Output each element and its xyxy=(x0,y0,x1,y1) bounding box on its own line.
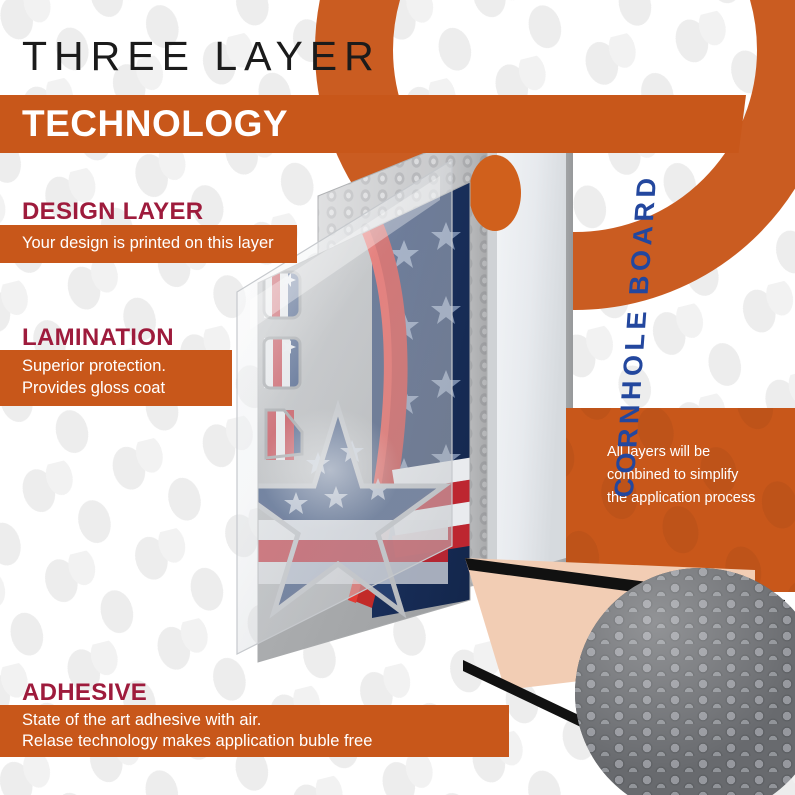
lamination-heading: LAMINATION xyxy=(22,324,174,352)
adhesive-band: State of the art adhesive with air. Rela… xyxy=(0,705,509,757)
adhesive-zoom-circle xyxy=(575,568,795,795)
adhesive-body-line-2: Relase technology makes application bubl… xyxy=(22,731,372,752)
title-band: TECHNOLOGY xyxy=(0,95,746,153)
note-line-3: the application process xyxy=(607,487,792,510)
headline-technology: TECHNOLOGY xyxy=(22,102,288,146)
adhesive-heading: ADHESIVE xyxy=(22,679,147,707)
design-layer-band: Your design is printed on this layer xyxy=(0,225,297,263)
infographic-canvas: All layers will be combined to simplify … xyxy=(0,0,795,795)
adhesive-body-line-1: State of the art adhesive with air. xyxy=(22,710,261,731)
lamination-body-line-2: Provides gloss coat xyxy=(22,378,165,399)
cornhole-hole xyxy=(469,155,521,231)
lamination-band: Superior protection. Provides gloss coat xyxy=(0,350,232,406)
all-layers-note: All layers will be combined to simplify … xyxy=(607,441,792,510)
note-line-1: All layers will be xyxy=(607,441,792,464)
design-layer-body-line-1: Your design is printed on this layer xyxy=(22,233,274,254)
headline-three-layer: THREE LAYER xyxy=(22,36,381,77)
design-layer-heading: DESIGN LAYER xyxy=(22,198,203,226)
note-line-2: combined to simplify xyxy=(607,464,792,487)
lamination-body-line-1: Superior protection. xyxy=(22,356,166,377)
